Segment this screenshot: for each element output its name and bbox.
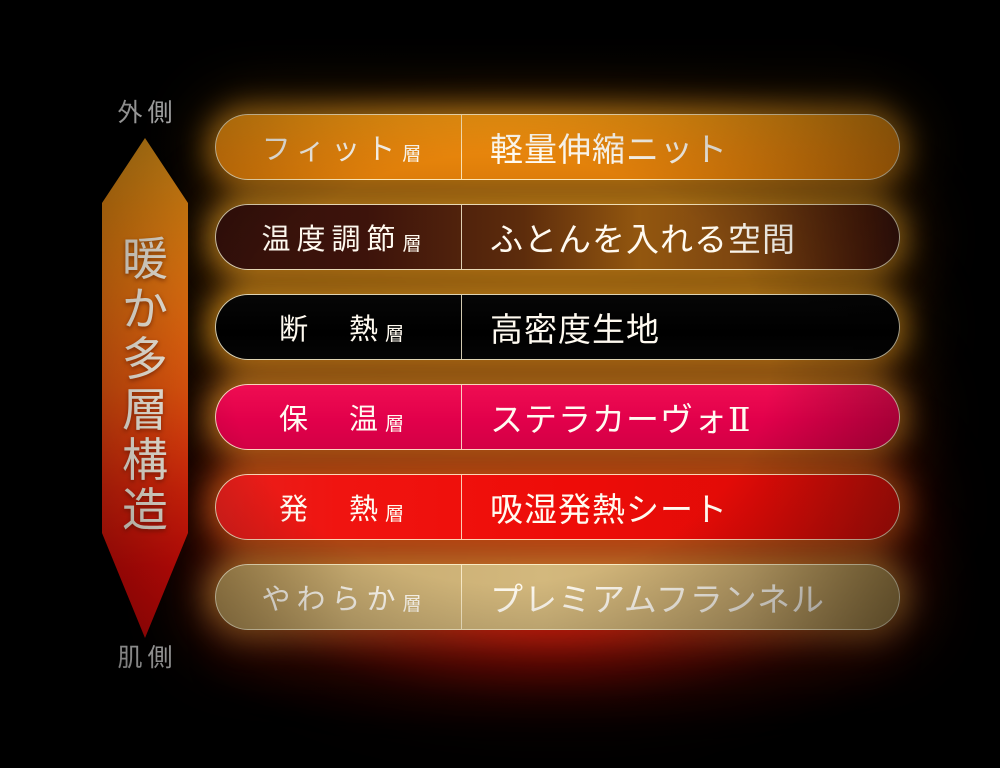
layer-row-fit: フィット層 軽量伸縮ニット [215, 114, 900, 180]
material-name-heating: 吸湿発熱シート [462, 475, 899, 539]
material-name-insulation: 高密度生地 [462, 295, 899, 359]
layer-name-cell-temperature: 温度調節層 [216, 205, 461, 269]
layer-name-cell-soft: やわらか層 [216, 565, 461, 629]
layer-name-retention: 保 温 [273, 396, 384, 438]
layer-name-cell-fit: フィット層 [216, 115, 461, 179]
layer-row-temperature: 温度調節層 ふとんを入れる空間 [215, 204, 900, 270]
direction-arrow-banner [102, 138, 188, 638]
layer-name-cell-insulation: 断 熱層 [216, 295, 461, 359]
layer-row-insulation: 断 熱層 高密度生地 [215, 294, 900, 360]
layer-name-soft: やわらか [255, 576, 401, 618]
layer-name-temperature: 温度調節 [255, 216, 401, 258]
layer-suffix-heating: 層 [385, 499, 404, 526]
material-name-temperature: ふとんを入れる空間 [462, 205, 899, 269]
layer-row-heating: 発 熱層 吸湿発熱シート [215, 474, 900, 540]
layer-suffix-soft: 層 [403, 589, 422, 616]
layer-name-fit: フィット [256, 126, 401, 168]
layer-name-cell-heating: 発 熱層 [216, 475, 461, 539]
layer-suffix-temperature: 層 [403, 229, 422, 256]
layer-name-insulation: 断 熱 [273, 306, 384, 348]
skin-side-label: 肌側 [75, 638, 215, 674]
layer-suffix-retention: 層 [385, 409, 404, 436]
layer-list: フィット層 軽量伸縮ニット 温度調節層 ふとんを入れる空間 断 熱層 高密度生地… [215, 114, 900, 630]
material-name-soft: プレミアムフランネル [462, 565, 899, 629]
layer-suffix-insulation: 層 [385, 319, 404, 346]
material-name-fit: 軽量伸縮ニット [462, 115, 899, 179]
layer-suffix-fit: 層 [402, 139, 421, 166]
layer-row-soft: やわらか層 プレミアムフランネル [215, 564, 900, 630]
material-name-retention: ステラカーヴォⅡ [462, 385, 899, 449]
layer-name-heating: 発 熱 [273, 486, 384, 528]
layer-row-retention: 保 温層 ステラカーヴォⅡ [215, 384, 900, 450]
infographic-canvas: 外側 暖 か 多 層 構 造 肌側 フィット層 軽量伸縮ニット 温度調節層 ふと… [0, 0, 1000, 768]
layer-name-cell-retention: 保 温層 [216, 385, 461, 449]
outer-side-label: 外側 [75, 93, 215, 129]
